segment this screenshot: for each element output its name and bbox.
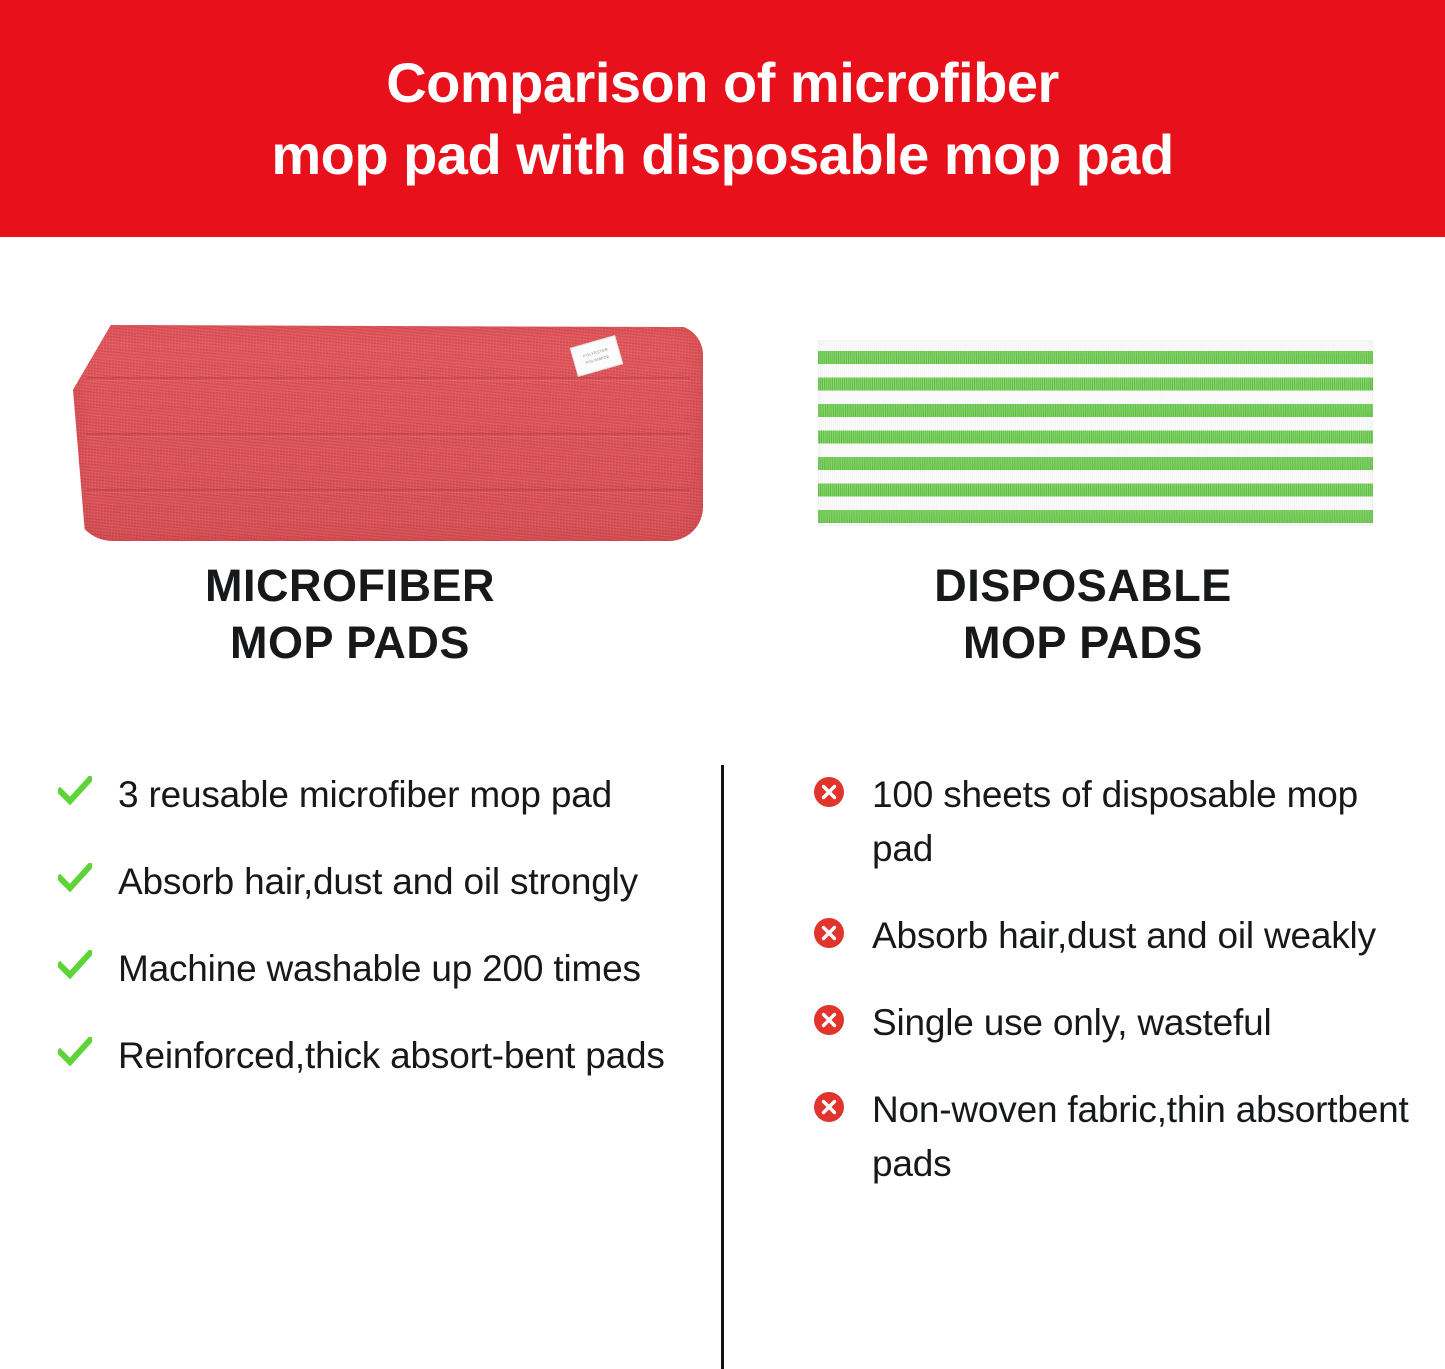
green-check-icon — [58, 950, 92, 980]
product-images-row: POLYESTER POLYAMIDE — [0, 237, 1445, 557]
list-item: Machine washable up 200 times — [58, 942, 698, 996]
disposable-heading-line-1: DISPOSABLE — [721, 557, 1445, 614]
list-item-label: Reinforced,thick absort-bent pads — [118, 1029, 665, 1083]
pad-seam — [86, 489, 691, 493]
list-item: 100 sheets of disposable mop pad — [812, 768, 1412, 876]
microfiber-heading: MICROFIBER MOP PADS — [0, 557, 700, 671]
disposable-mop-pad-image — [818, 340, 1373, 526]
green-check-icon — [58, 776, 92, 806]
pad-seam — [86, 377, 691, 381]
microfiber-heading-line-2: MOP PADS — [0, 614, 700, 671]
list-item-label: Absorb hair,dust and oil weakly — [872, 909, 1376, 963]
disposable-feature-list: 100 sheets of disposable mop pad Absorb … — [812, 768, 1412, 1224]
red-x-circle-icon — [812, 1091, 846, 1123]
list-item-label: Absorb hair,dust and oil strongly — [118, 855, 638, 909]
disposable-pad-body — [818, 340, 1373, 526]
feature-lists-row: 3 reusable microfiber mop pad Absorb hai… — [0, 768, 1445, 1369]
disposable-heading-line-2: MOP PADS — [721, 614, 1445, 671]
microfiber-heading-line-1: MICROFIBER — [0, 557, 700, 614]
list-item-label: Non-woven fabric,thin absortbent pads — [872, 1083, 1412, 1191]
list-item: 3 reusable microfiber mop pad — [58, 768, 698, 822]
red-x-circle-icon — [812, 776, 846, 808]
green-check-icon — [58, 863, 92, 893]
list-item: Absorb hair,dust and oil weakly — [812, 909, 1412, 963]
red-x-circle-icon — [812, 917, 846, 949]
red-x-circle-icon — [812, 1004, 846, 1036]
list-item-label: Single use only, wasteful — [872, 996, 1272, 1050]
list-item-label: 100 sheets of disposable mop pad — [872, 768, 1412, 876]
list-item: Non-woven fabric,thin absortbent pads — [812, 1083, 1412, 1191]
list-item-label: 3 reusable microfiber mop pad — [118, 768, 612, 822]
list-item: Single use only, wasteful — [812, 996, 1412, 1050]
comparison-infographic: Comparison of microfiber mop pad with di… — [0, 0, 1445, 1369]
header-banner: Comparison of microfiber mop pad with di… — [0, 0, 1445, 237]
disposable-heading: DISPOSABLE MOP PADS — [721, 557, 1445, 671]
pad-texture-overlay — [816, 338, 1375, 528]
banner-title-line-2: mop pad with disposable mop pad — [271, 119, 1173, 191]
list-item: Absorb hair,dust and oil strongly — [58, 855, 698, 909]
category-headings-row: MICROFIBER MOP PADS DISPOSABLE MOP PADS — [0, 557, 1445, 707]
pad-seam — [86, 433, 691, 437]
green-check-icon — [58, 1037, 92, 1067]
list-item: Reinforced,thick absort-bent pads — [58, 1029, 698, 1083]
microfiber-feature-list: 3 reusable microfiber mop pad Absorb hai… — [58, 768, 698, 1116]
list-item-label: Machine washable up 200 times — [118, 942, 641, 996]
banner-title-line-1: Comparison of microfiber — [386, 47, 1059, 119]
